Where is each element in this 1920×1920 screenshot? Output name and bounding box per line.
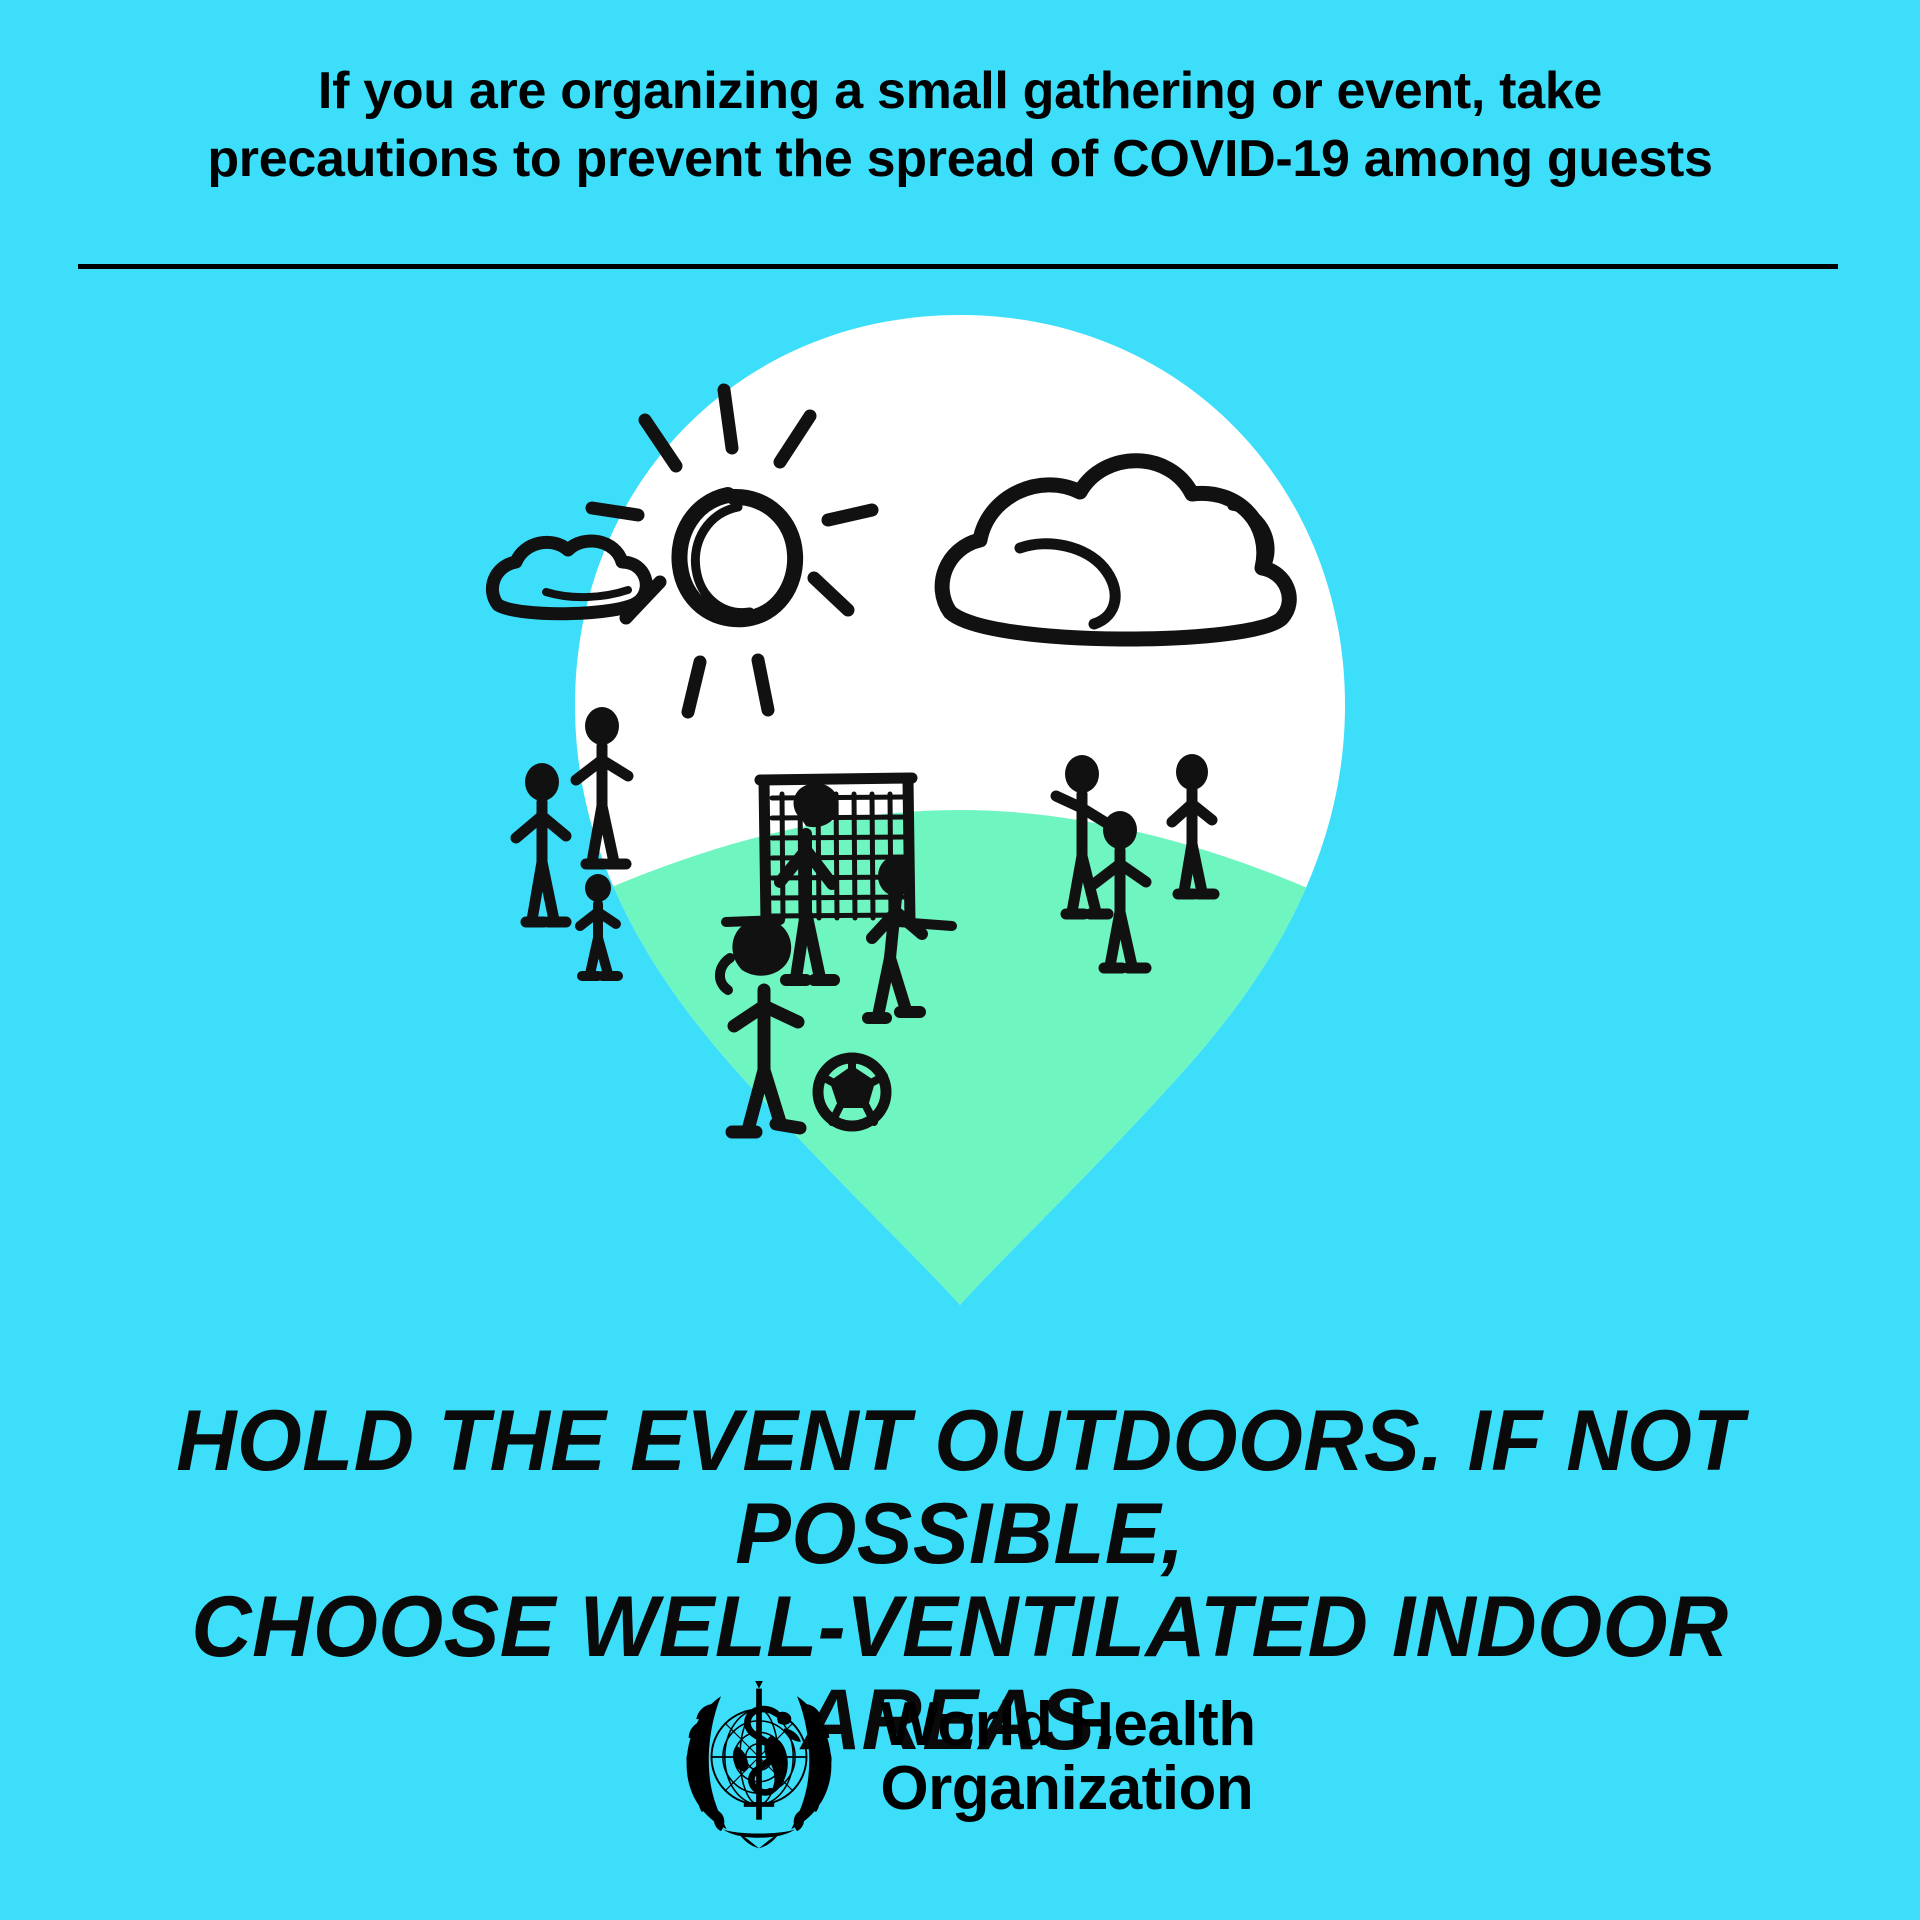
grass-field [520,810,1405,1310]
who-wordmark-line-2: Organization [880,1757,1255,1821]
header-block: If you are organizing a small gathering … [0,58,1920,193]
headline-line-1: Hold the event outdoors. If not possible… [29,1395,1891,1581]
who-wordmark: World Health Organization [880,1693,1255,1821]
illustration-map-pin-outdoor-event [480,310,1440,1310]
who-wordmark-line-1: World Health [880,1693,1255,1757]
poster-canvas: If you are organizing a small gathering … [0,0,1920,1920]
page-title: If you are organizing a small gathering … [180,58,1740,193]
who-logo-lockup: World Health Organization [0,1662,1920,1852]
who-emblem-icon [664,1662,854,1852]
header-divider [78,264,1838,269]
